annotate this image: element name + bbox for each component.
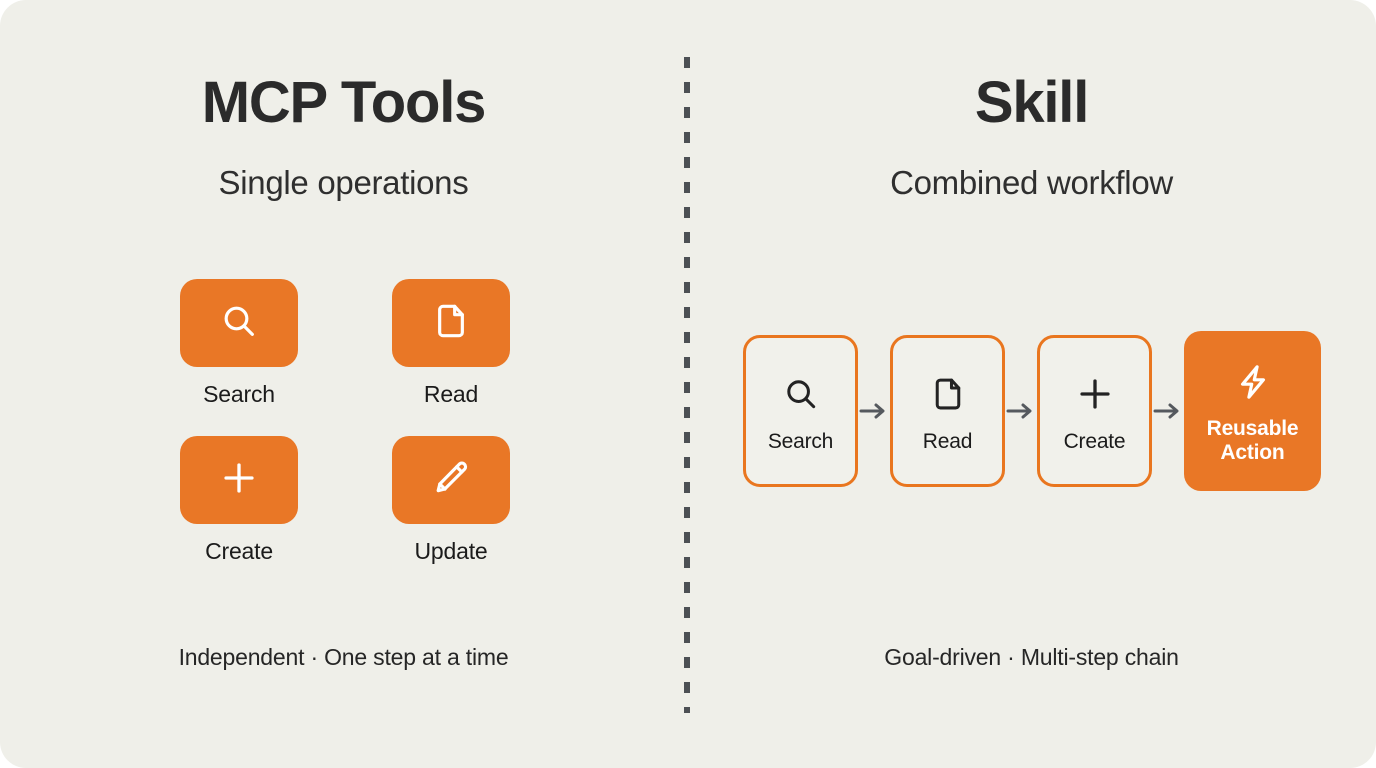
tool-label-search: Search <box>203 383 275 406</box>
tool-item-read[interactable]: Read <box>392 279 510 406</box>
tool-item-search[interactable]: Search <box>180 279 298 406</box>
tool-item-update[interactable]: Update <box>392 436 510 563</box>
chain-label-create: Create <box>1064 430 1126 454</box>
tool-tile-update[interactable] <box>392 436 510 524</box>
chain-step-read[interactable]: Read <box>890 335 1005 487</box>
chain-label-search: Search <box>768 430 833 454</box>
mcp-tool-grid: Search Read <box>180 279 510 563</box>
document-icon <box>929 369 967 419</box>
tool-item-create[interactable]: Create <box>180 436 298 563</box>
tool-tile-search[interactable] <box>180 279 298 367</box>
tool-tile-read[interactable] <box>392 279 510 367</box>
tool-label-read: Read <box>424 383 478 406</box>
arrow-right-icon <box>1152 400 1184 422</box>
page-title-skill: Skill <box>687 74 1376 132</box>
arrow-right-icon <box>858 400 890 422</box>
chain-step-search[interactable]: Search <box>743 335 858 487</box>
search-icon <box>219 301 259 346</box>
chain-label-read: Read <box>923 430 972 454</box>
page-title-mcp-tools: MCP Tools <box>0 74 687 132</box>
footer-caption-mcp-tools: Independent · One step at a time <box>0 646 687 669</box>
search-icon <box>782 369 820 419</box>
plus-icon <box>1074 369 1116 419</box>
chain-label-reusable-action: ReusableAction <box>1207 417 1299 464</box>
skill-workflow-chain: Search Read <box>743 331 1321 491</box>
document-icon <box>431 301 471 346</box>
tool-tile-create[interactable] <box>180 436 298 524</box>
lightning-icon <box>1234 357 1272 407</box>
pencil-icon <box>431 458 471 503</box>
chain-step-create[interactable]: Create <box>1037 335 1152 487</box>
diagram-canvas: MCP Tools Single operations Search <box>0 0 1376 768</box>
footer-caption-skill: Goal-driven · Multi-step chain <box>687 646 1376 669</box>
subtitle-mcp-tools: Single operations <box>0 166 687 199</box>
plus-icon <box>218 457 260 504</box>
tool-label-create: Create <box>205 540 273 563</box>
arrow-right-icon <box>1005 400 1037 422</box>
tool-label-update: Update <box>415 540 488 563</box>
chain-step-reusable-action[interactable]: ReusableAction <box>1184 331 1321 491</box>
subtitle-skill: Combined workflow <box>687 166 1376 199</box>
mcp-tools-panel: MCP Tools Single operations Search <box>0 0 687 768</box>
